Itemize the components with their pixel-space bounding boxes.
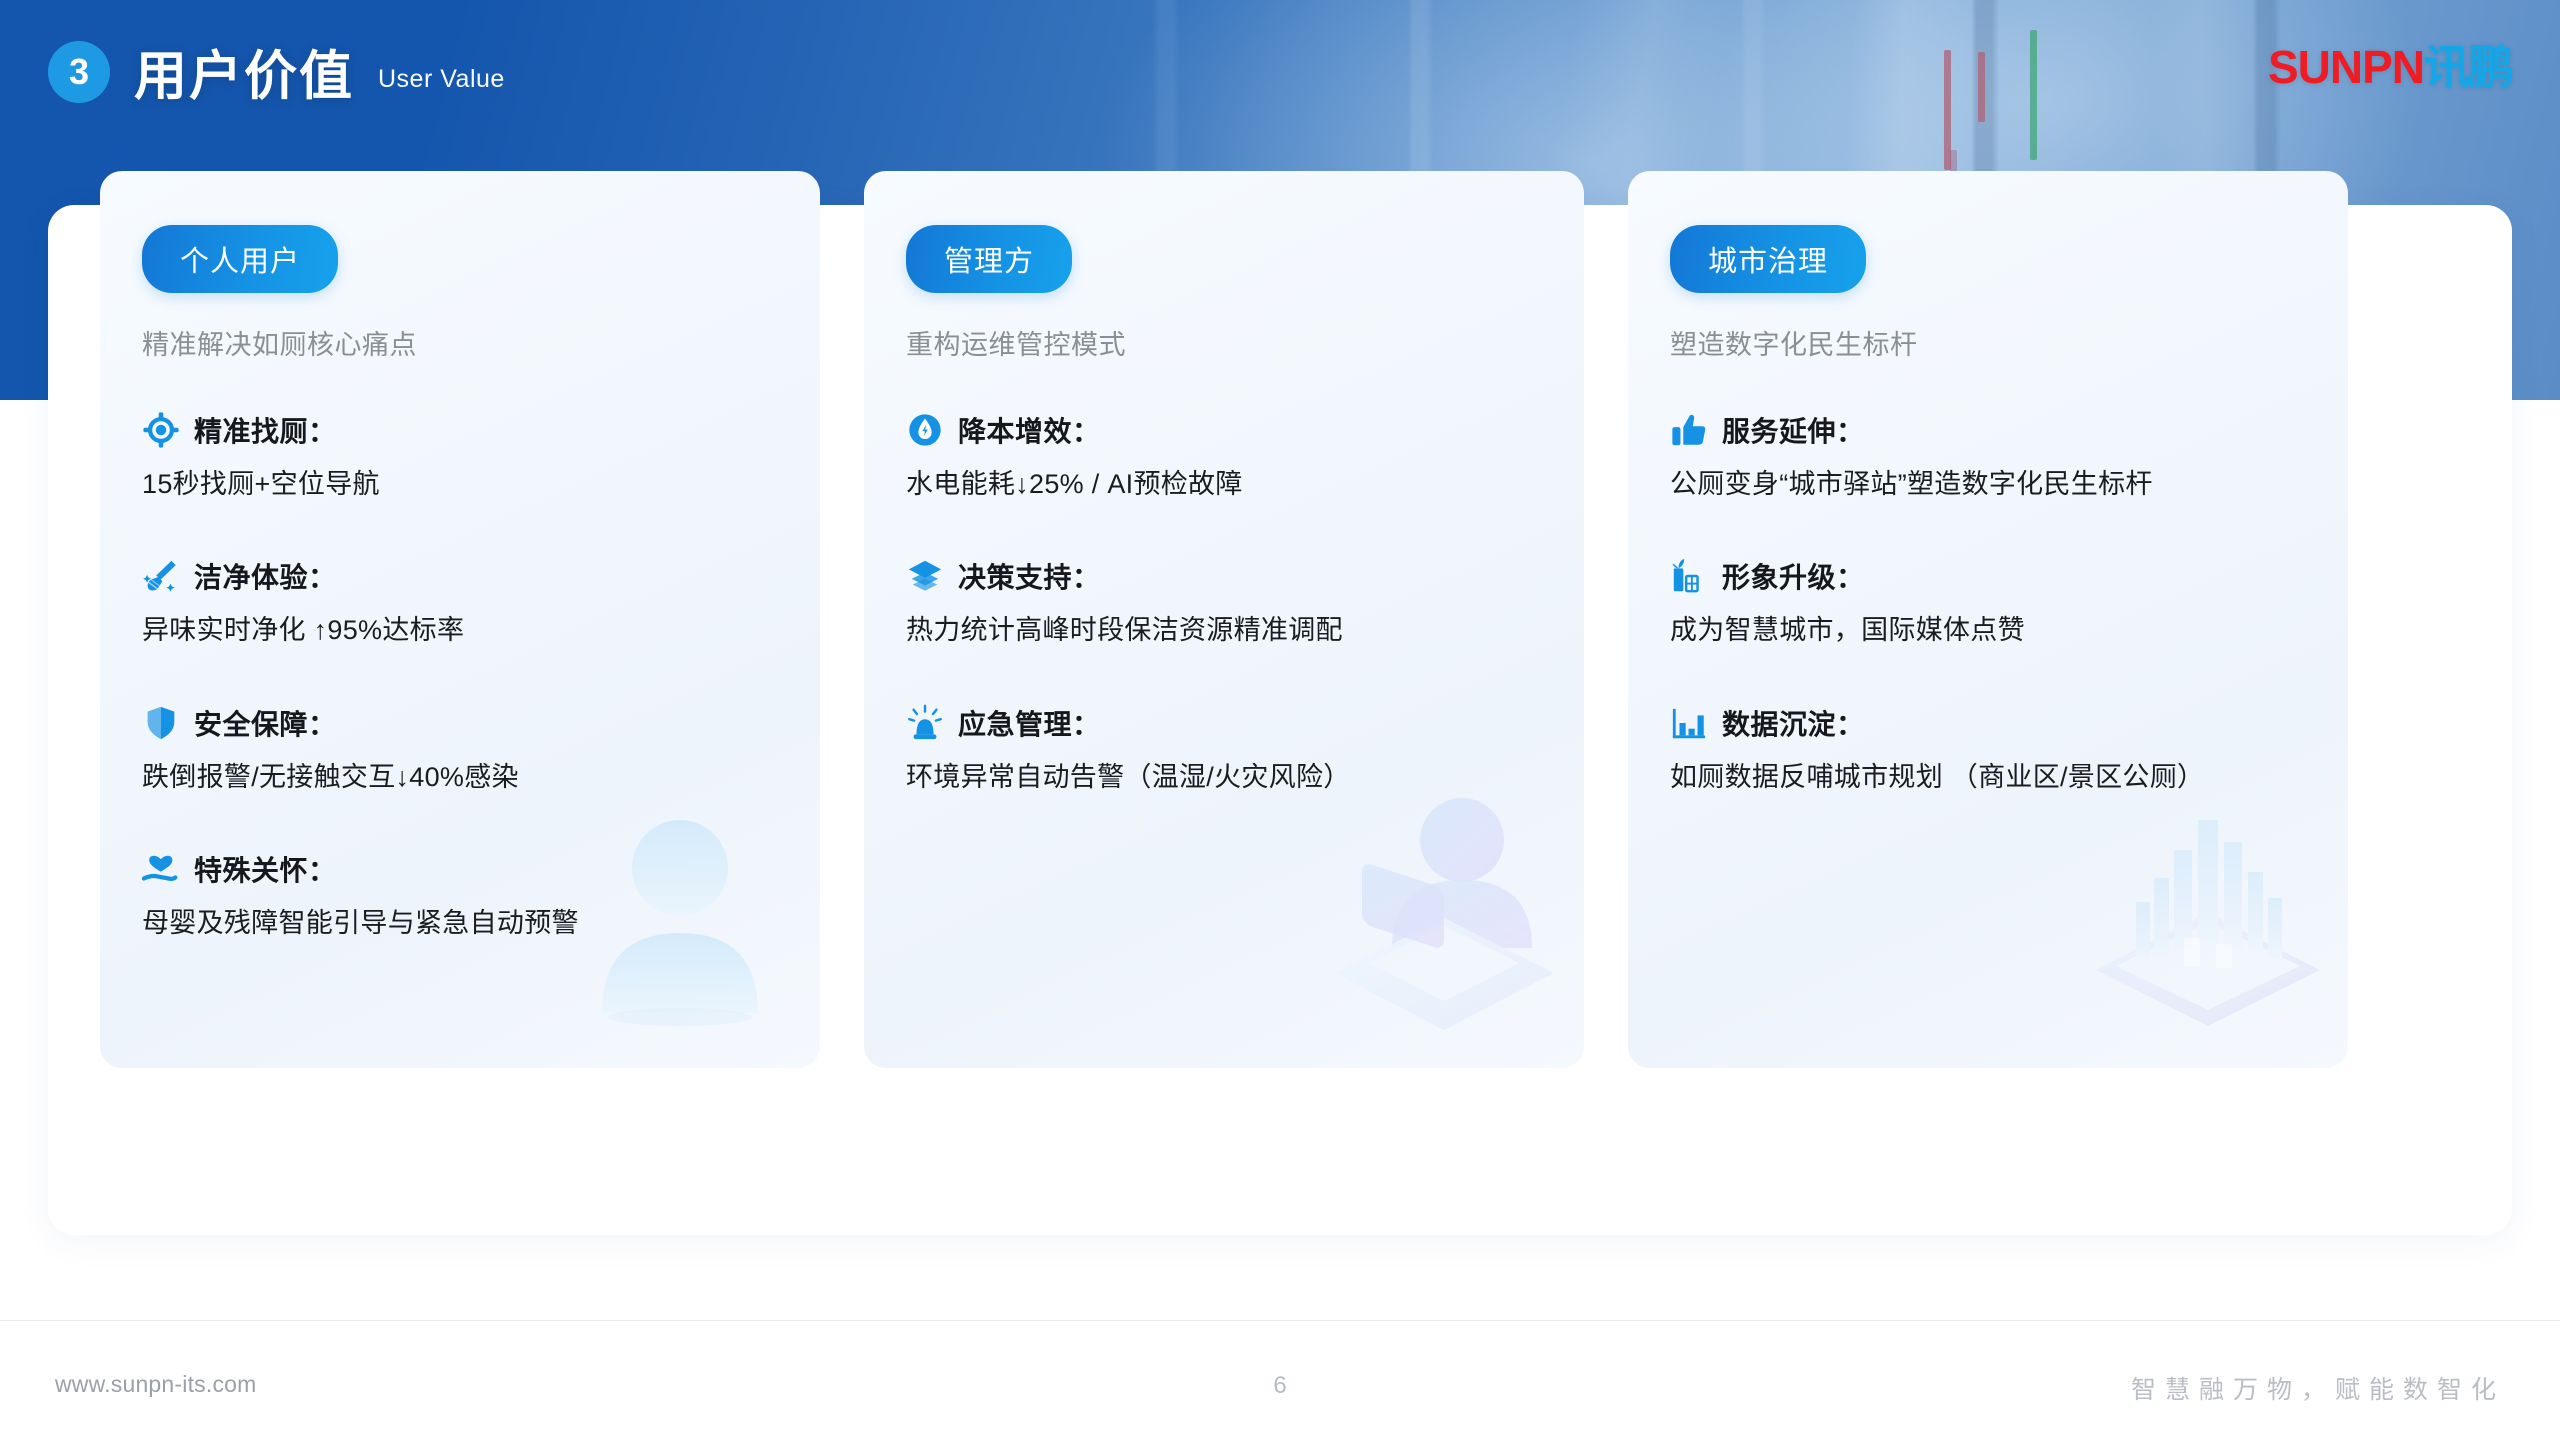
list-item-title: 数据沉淀： xyxy=(1722,703,1865,743)
list-item: 降本增效： 水电能耗↓25% / AI预检故障 xyxy=(906,410,1542,502)
list-item-desc: 异味实时净化 ↑95%达标率 xyxy=(142,612,778,648)
card-subtitle: 重构运维管控模式 xyxy=(906,323,1542,362)
page-subtitle-en: User Value xyxy=(378,51,505,94)
thumbs-up-icon xyxy=(1670,411,1708,449)
list-item-header: 降本增效： xyxy=(906,410,1542,450)
list-item-title: 降本增效： xyxy=(958,410,1101,450)
list-item-header: 数据沉淀： xyxy=(1670,703,2306,743)
card-pill-label: 个人用户 xyxy=(142,225,338,293)
value-cards-row: 个人用户 精准解决如厕核心痛点 精准找厕： xyxy=(48,205,2512,1235)
list-item-title: 应急管理： xyxy=(958,703,1101,743)
accent-stripe-red-2 xyxy=(1978,52,1985,122)
footer-tagline: 智慧融万物，赋能数智化 xyxy=(2131,1370,2505,1406)
slide-header: 3 用户价值 User Value xyxy=(48,34,505,110)
list-item: 数据沉淀： 如厕数据反哺城市规划 （商业区/景区公厕） xyxy=(1670,703,2306,795)
footer-divider xyxy=(0,1320,2560,1321)
value-card-city-governance: 城市治理 塑造数字化民生标杆 服务延伸： 公厕变身“城市驿站”塑造数字化民生标杆 xyxy=(1628,171,2348,1068)
list-item-header: 服务延伸： xyxy=(1670,410,2306,450)
list-item-header: 安全保障： xyxy=(142,703,778,743)
layers-stack-icon xyxy=(906,557,944,595)
list-item-desc: 15秒找厕+空位导航 xyxy=(142,466,778,502)
list-item-title: 精准找厕： xyxy=(194,410,337,450)
section-number-badge: 3 xyxy=(48,41,110,103)
logo-text-cn: 讯鹏 xyxy=(2424,41,2512,93)
list-item-title: 服务延伸： xyxy=(1722,410,1865,450)
person-monitor-isometric-illustration xyxy=(1314,798,1574,1058)
eco-building-icon xyxy=(1670,557,1708,595)
list-item: 精准找厕： 15秒找厕+空位导航 xyxy=(142,410,778,502)
list-item-header: 洁净体验： xyxy=(142,556,778,596)
list-item-header: 形象升级： xyxy=(1670,556,2306,596)
target-locate-icon xyxy=(142,411,180,449)
list-item: 形象升级： 成为智慧城市，国际媒体点赞 xyxy=(1670,556,2306,648)
list-item-desc: 公厕变身“城市驿站”塑造数字化民生标杆 xyxy=(1670,466,2306,502)
alarm-beacon-icon xyxy=(906,704,944,742)
heart-hand-care-icon xyxy=(142,850,180,888)
page-title: 用户价值 xyxy=(134,34,354,110)
card-pill-label: 城市治理 xyxy=(1670,225,1866,293)
list-item-title: 决策支持： xyxy=(958,556,1101,596)
card-item-list: 降本增效： 水电能耗↓25% / AI预检故障 决策支持： 热力统计高峰时段保洁… xyxy=(906,410,1542,795)
list-item-desc: 如厕数据反哺城市规划 （商业区/景区公厕） xyxy=(1670,759,2306,795)
value-card-management: 管理方 重构运维管控模式 降本增效： 水电能耗↓25% / AI预检故障 xyxy=(864,171,1584,1068)
list-item-desc: 母婴及残障智能引导与紧急自动预警 xyxy=(142,905,778,941)
shield-icon xyxy=(142,704,180,742)
accent-stripe-green xyxy=(2030,30,2037,160)
list-item: 安全保障： 跌倒报警/无接触交互↓40%感染 xyxy=(142,703,778,795)
card-subtitle: 塑造数字化民生标杆 xyxy=(1670,323,2306,362)
list-item: 应急管理： 环境异常自动告警（温湿/火灾风险） xyxy=(906,703,1542,795)
list-item-title: 安全保障： xyxy=(194,703,337,743)
card-pill-label: 管理方 xyxy=(906,225,1072,293)
list-item: 洁净体验： 异味实时净化 ↑95%达标率 xyxy=(142,556,778,648)
list-item-header: 特殊关怀： xyxy=(142,849,778,889)
value-card-personal-user: 个人用户 精准解决如厕核心痛点 精准找厕： xyxy=(100,171,820,1068)
list-item-title: 形象升级： xyxy=(1722,556,1865,596)
list-item-desc: 热力统计高峰时段保洁资源精准调配 xyxy=(906,612,1542,648)
logo-text-en: SUNPN xyxy=(2268,41,2424,93)
list-item-desc: 成为智慧城市，国际媒体点赞 xyxy=(1670,612,2306,648)
list-item: 特殊关怀： 母婴及残障智能引导与紧急自动预警 xyxy=(142,849,778,941)
isometric-city-skyline-illustration xyxy=(2078,798,2338,1058)
bar-chart-icon xyxy=(1670,704,1708,742)
list-item-desc: 跌倒报警/无接触交互↓40%感染 xyxy=(142,759,778,795)
list-item: 决策支持： 热力统计高峰时段保洁资源精准调配 xyxy=(906,556,1542,648)
list-item-header: 精准找厕： xyxy=(142,410,778,450)
list-item-desc: 环境异常自动告警（温湿/火灾风险） xyxy=(906,759,1542,795)
card-item-list: 服务延伸： 公厕变身“城市驿站”塑造数字化民生标杆 xyxy=(1670,410,2306,795)
list-item-desc: 水电能耗↓25% / AI预检故障 xyxy=(906,466,1542,502)
card-item-list: 精准找厕： 15秒找厕+空位导航 洁净体验 xyxy=(142,410,778,942)
list-item-title: 洁净体验： xyxy=(194,556,337,596)
list-item: 服务延伸： 公厕变身“城市驿站”塑造数字化民生标杆 xyxy=(1670,410,2306,502)
list-item-header: 应急管理： xyxy=(906,703,1542,743)
card-subtitle: 精准解决如厕核心痛点 xyxy=(142,323,778,362)
list-item-title: 特殊关怀： xyxy=(194,849,337,889)
list-item-header: 决策支持： xyxy=(906,556,1542,596)
broom-clean-icon xyxy=(142,557,180,595)
content-panel: 个人用户 精准解决如厕核心痛点 精准找厕： xyxy=(48,205,2512,1235)
company-logo: SUNPN讯鹏 xyxy=(2268,44,2512,90)
water-drop-energy-icon xyxy=(906,411,944,449)
